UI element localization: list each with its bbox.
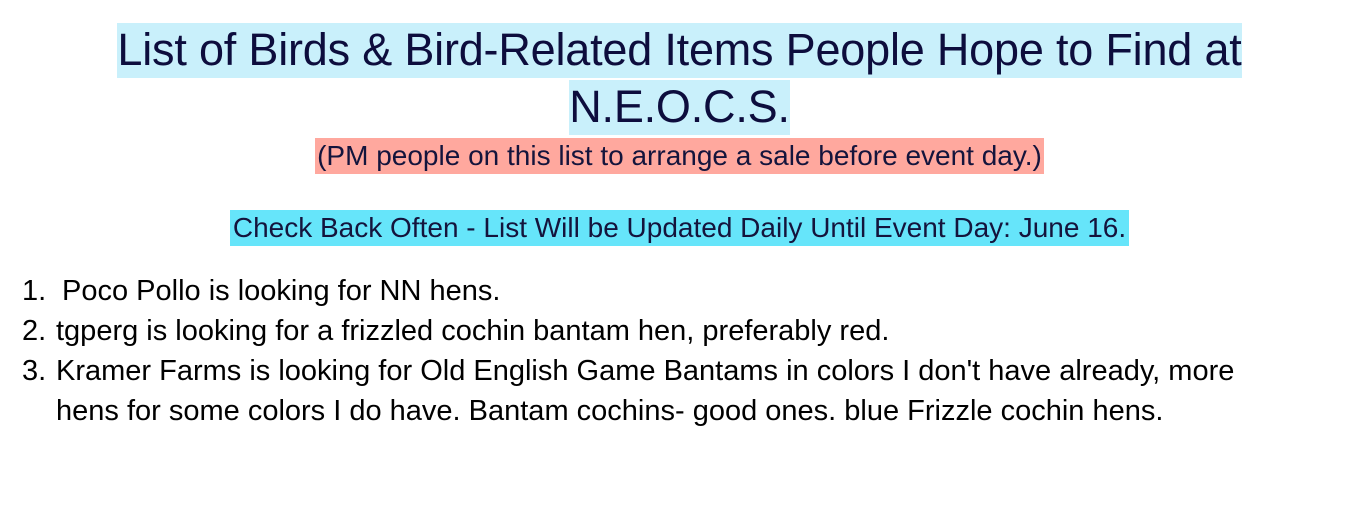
subtitle-note: (PM people on this list to arrange a sal… xyxy=(0,138,1359,174)
page-title-line-2: N.E.O.C.S. xyxy=(569,80,790,135)
list-item-text: Poco Pollo is looking for NN hens. xyxy=(56,271,1359,311)
list-item-text: tgperg is looking for a frizzled cochin … xyxy=(56,311,1359,351)
wanted-items-list: 1. Poco Pollo is looking for NN hens. 2.… xyxy=(0,271,1359,431)
list-item-text: Kramer Farms is looking for Old English … xyxy=(56,351,1359,431)
list-item-marker: 3. xyxy=(0,351,56,391)
page-root: List of Birds & Bird-Related Items Peopl… xyxy=(0,0,1359,513)
page-title: List of Birds & Bird-Related Items Peopl… xyxy=(41,21,1319,135)
heading-block: List of Birds & Bird-Related Items Peopl… xyxy=(0,0,1359,246)
update-notice: Check Back Often - List Will be Updated … xyxy=(0,210,1359,246)
list-item: 2. tgperg is looking for a frizzled coch… xyxy=(0,311,1359,351)
update-notice-text: Check Back Often - List Will be Updated … xyxy=(230,210,1129,246)
subtitle-note-text: (PM people on this list to arrange a sal… xyxy=(315,138,1044,174)
list-item-marker: 2. xyxy=(0,311,56,351)
list-item: 3. Kramer Farms is looking for Old Engli… xyxy=(0,351,1359,431)
page-title-line-1: List of Birds & Bird-Related Items Peopl… xyxy=(117,23,1241,78)
list-item: 1. Poco Pollo is looking for NN hens. xyxy=(0,271,1359,311)
list-item-marker: 1. xyxy=(0,271,56,311)
